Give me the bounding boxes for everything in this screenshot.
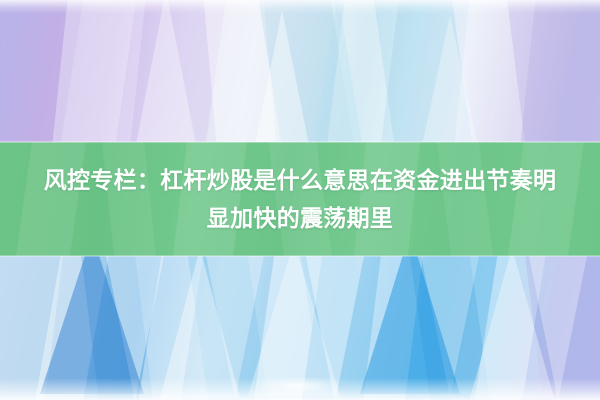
background-chevron	[360, 256, 460, 394]
bottom-highlight	[262, 378, 338, 394]
background-shard	[452, 0, 539, 142]
background-shard	[0, 0, 88, 142]
background-triangle	[420, 15, 480, 142]
background-shard	[504, 0, 600, 142]
top-gradient-band	[0, 0, 600, 142]
background-shard	[184, 256, 272, 400]
background-triangle	[312, 0, 364, 142]
headline-block: 风控专栏：杠杆炒股是什么意思在资金进出节奏明 显加快的震荡期里	[0, 142, 600, 256]
background-wedge	[105, 256, 165, 400]
background-chevron	[248, 256, 340, 396]
top-edge-glow	[0, 0, 600, 14]
background-shard	[254, 0, 357, 142]
background-shard	[324, 0, 402, 142]
background-shard	[50, 0, 149, 142]
background-shard	[522, 256, 600, 400]
bottom-edge-glow	[0, 378, 600, 400]
background-shard	[470, 256, 550, 400]
background-triangle	[132, 0, 200, 142]
background-shard	[250, 256, 326, 400]
headline-line-2: 显加快的震荡期里	[207, 199, 393, 237]
background-shard	[406, 256, 494, 400]
background-shard	[296, 256, 382, 400]
background-chevron	[40, 256, 144, 394]
background-triangle	[252, 10, 312, 142]
background-shard	[134, 256, 208, 400]
background-shard	[0, 256, 66, 400]
background-wedge	[420, 256, 480, 397]
background-wedge	[205, 256, 265, 399]
background-shard	[201, 0, 278, 142]
headline-line-1: 风控专栏：杠杆炒股是什么意思在资金进出节奏明	[44, 161, 557, 199]
background-shard	[360, 256, 427, 400]
background-shard	[370, 0, 476, 142]
background-wedge	[528, 256, 588, 400]
background-shard	[30, 256, 114, 400]
background-shard	[78, 256, 157, 400]
background-chevron	[470, 256, 554, 398]
promo-banner: 风控专栏：杠杆炒股是什么意思在资金进出节奏明 显加快的震荡期里	[0, 0, 600, 400]
background-wedge	[305, 256, 365, 400]
bottom-chevron-band	[0, 256, 600, 400]
background-chevron	[160, 256, 240, 398]
background-shard	[112, 0, 230, 142]
